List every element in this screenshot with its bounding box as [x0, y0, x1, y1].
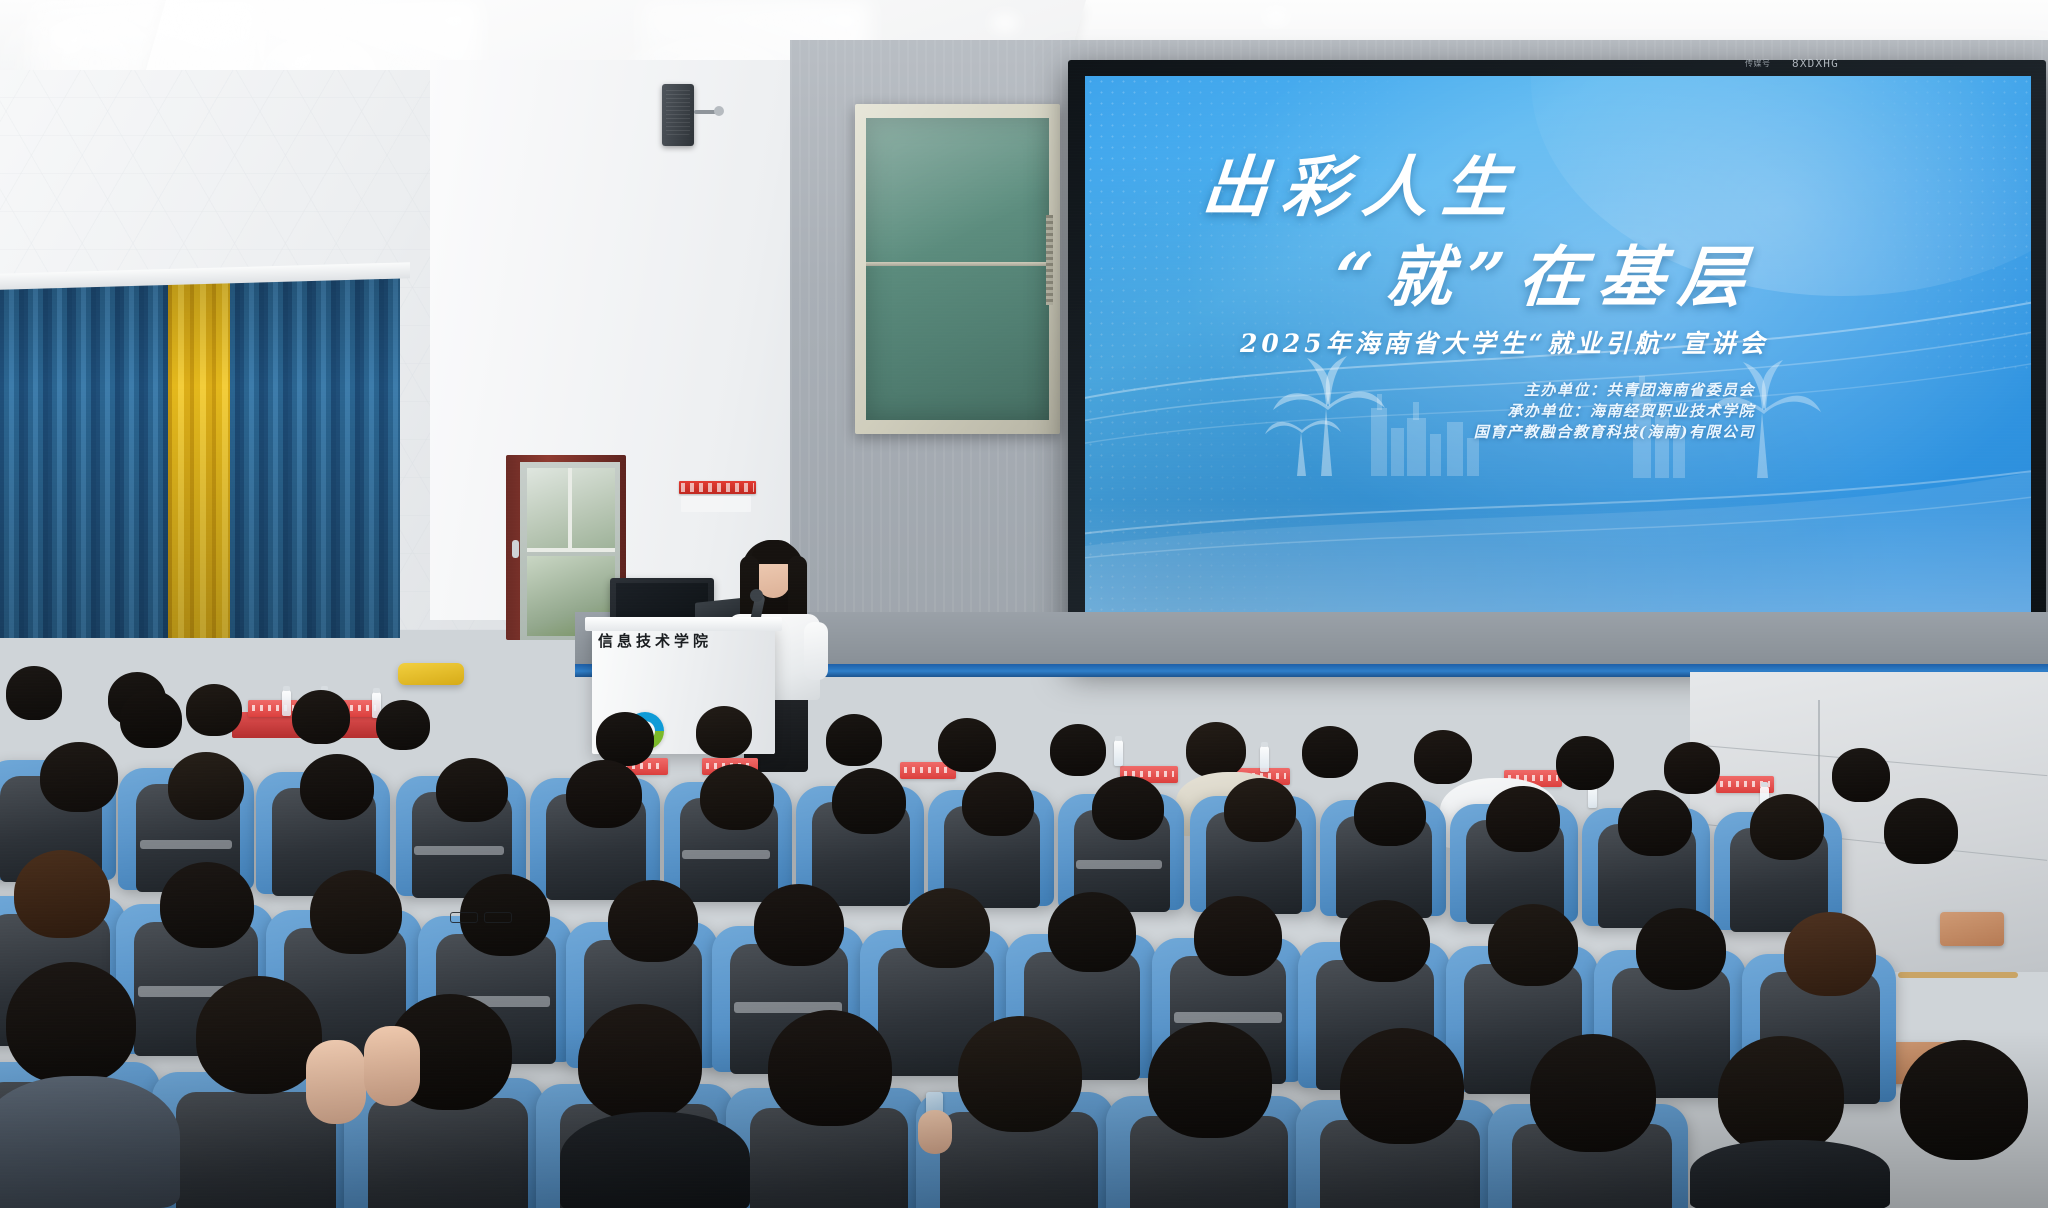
red-banner-text	[681, 483, 754, 492]
audience-head	[768, 1010, 892, 1126]
audience-head	[168, 752, 244, 820]
podium-sign-text: 信息技术学院	[598, 630, 768, 651]
audience-head	[40, 742, 118, 812]
audience-head	[902, 888, 990, 968]
wall-center	[430, 60, 850, 620]
audience-shoulders	[560, 1112, 750, 1208]
audience-head	[1750, 794, 1824, 860]
audience-head	[1186, 722, 1246, 778]
audience-head	[436, 758, 508, 822]
door-handle[interactable]	[512, 540, 519, 558]
seat-cushion	[368, 1098, 528, 1208]
audience-head	[196, 976, 322, 1094]
seat-highlight-band	[140, 840, 232, 849]
stage-curtain	[0, 278, 400, 638]
audience-head	[1900, 1040, 2028, 1160]
name-card-text	[904, 767, 952, 773]
curtain-shading	[0, 278, 400, 638]
lecture-hall-photo: 出彩人生 “就”在基层 2025年海南省大学生“就业引航”宣讲会 主办单位：共青…	[0, 0, 2048, 1208]
yellow-stool[interactable]	[398, 663, 464, 685]
audience-head	[1340, 1028, 1464, 1144]
audience-head	[1832, 748, 1890, 802]
audience-head	[826, 714, 882, 766]
audience-head	[608, 880, 698, 962]
water-bottle	[282, 690, 291, 716]
audience-hand	[918, 1110, 952, 1154]
audience-head	[1664, 742, 1720, 794]
window-mullion	[527, 548, 615, 552]
bottle-cap	[1761, 782, 1768, 787]
audience-head	[1784, 912, 1876, 996]
audience-head	[160, 862, 254, 948]
floor-threshold-strip	[1898, 972, 2018, 978]
bottle-cap	[283, 686, 290, 691]
audience-head	[1050, 724, 1106, 776]
led-subtitle: 2025年海南省大学生“就业引航”宣讲会	[1240, 324, 1768, 360]
audience-head	[6, 962, 136, 1084]
audience-head	[1884, 798, 1958, 864]
audience-head	[376, 700, 430, 750]
audience-head	[754, 884, 844, 966]
audience-head	[1048, 892, 1136, 972]
seat-highlight-band	[682, 850, 770, 859]
audience-head	[292, 690, 350, 744]
wall-notice-card	[681, 496, 751, 512]
audience-head	[1354, 782, 1426, 846]
audience-head	[938, 718, 996, 772]
chalkboard-glare	[866, 118, 1049, 268]
bottle-cap	[373, 688, 380, 693]
watermark-prefix: 传媒号	[1745, 58, 1771, 69]
seat-highlight-band	[1174, 1012, 1282, 1023]
wall-mounted-speaker	[662, 84, 694, 146]
audience-head	[696, 706, 752, 758]
speaker-mount-arm	[694, 110, 716, 114]
led-title-line-1: 出彩人生	[1199, 134, 1527, 230]
audience-head	[700, 764, 774, 830]
audience-head	[596, 712, 654, 766]
eyeglasses	[450, 912, 478, 923]
water-bottle	[1260, 746, 1269, 772]
microphone-head	[750, 589, 763, 602]
bottle-cap	[1261, 742, 1268, 747]
led-bottom-glow	[1085, 501, 2031, 621]
audience-head	[1556, 736, 1614, 790]
audience-head	[1148, 1022, 1272, 1138]
audience-head	[566, 760, 642, 828]
audience-shoulders	[1690, 1140, 1890, 1208]
audience-head	[1194, 896, 1282, 976]
audience-head	[1618, 790, 1692, 856]
audience-head	[1718, 1036, 1844, 1154]
audience-head	[1340, 900, 1430, 982]
audience-head	[1530, 1034, 1656, 1152]
audience-head	[1092, 776, 1164, 840]
chalkboard-clip-strip	[1046, 215, 1053, 305]
speaker-mount-knob	[714, 106, 724, 116]
audience-hand	[306, 1040, 366, 1124]
audience-head	[14, 850, 110, 938]
watermark-code: 8XDXHG	[1792, 57, 1839, 70]
podium-top-surface	[585, 617, 782, 631]
audience-head	[958, 1016, 1082, 1132]
audience-head	[1488, 904, 1578, 986]
audience-hand	[364, 1026, 420, 1106]
led-organizers: 主办单位：共青团海南省委员会 承办单位：海南经贸职业技术学院 国育产教融合教育科…	[1305, 380, 1755, 443]
audience-head	[310, 870, 402, 954]
ceiling-spotlight	[1256, 8, 1296, 24]
audience-head	[578, 1004, 702, 1120]
organizer-line-company: 国育产教融合教育科技(海南)有限公司	[1305, 422, 1755, 443]
audience-head	[1636, 908, 1726, 990]
seat-highlight-band	[1076, 860, 1162, 869]
led-title-line-2: “就”在基层	[1331, 224, 1763, 320]
audience-head	[1302, 726, 1358, 778]
speaker-grill	[666, 89, 690, 135]
audience-head	[962, 772, 1034, 836]
audience-head	[120, 690, 182, 748]
presenter-sleeve-right	[804, 622, 828, 680]
ceiling-spotlight	[984, 14, 1026, 32]
water-bottle	[1114, 740, 1123, 766]
bottle-cap	[1115, 736, 1122, 741]
audience-shoulders	[0, 1076, 180, 1208]
audience-head	[300, 754, 374, 820]
audience-head	[186, 684, 242, 736]
organizer-line-cohost: 承办单位：海南经贸职业技术学院	[1305, 401, 1755, 422]
seat-highlight-band	[414, 846, 504, 855]
eyeglasses	[484, 912, 512, 923]
chalkboard-divider	[866, 262, 1049, 266]
window-mullion	[568, 468, 572, 548]
audience-head	[1414, 730, 1472, 784]
audience-head	[6, 666, 62, 720]
audience-head	[1486, 786, 1560, 852]
audience-head	[832, 768, 906, 834]
wooden-seat-back[interactable]	[1940, 912, 2004, 946]
audience-head	[1224, 778, 1296, 842]
led-display[interactable]: 出彩人生 “就”在基层 2025年海南省大学生“就业引航”宣讲会 主办单位：共青…	[1085, 76, 2031, 621]
organizer-line-host: 主办单位：共青团海南省委员会	[1305, 380, 1755, 401]
